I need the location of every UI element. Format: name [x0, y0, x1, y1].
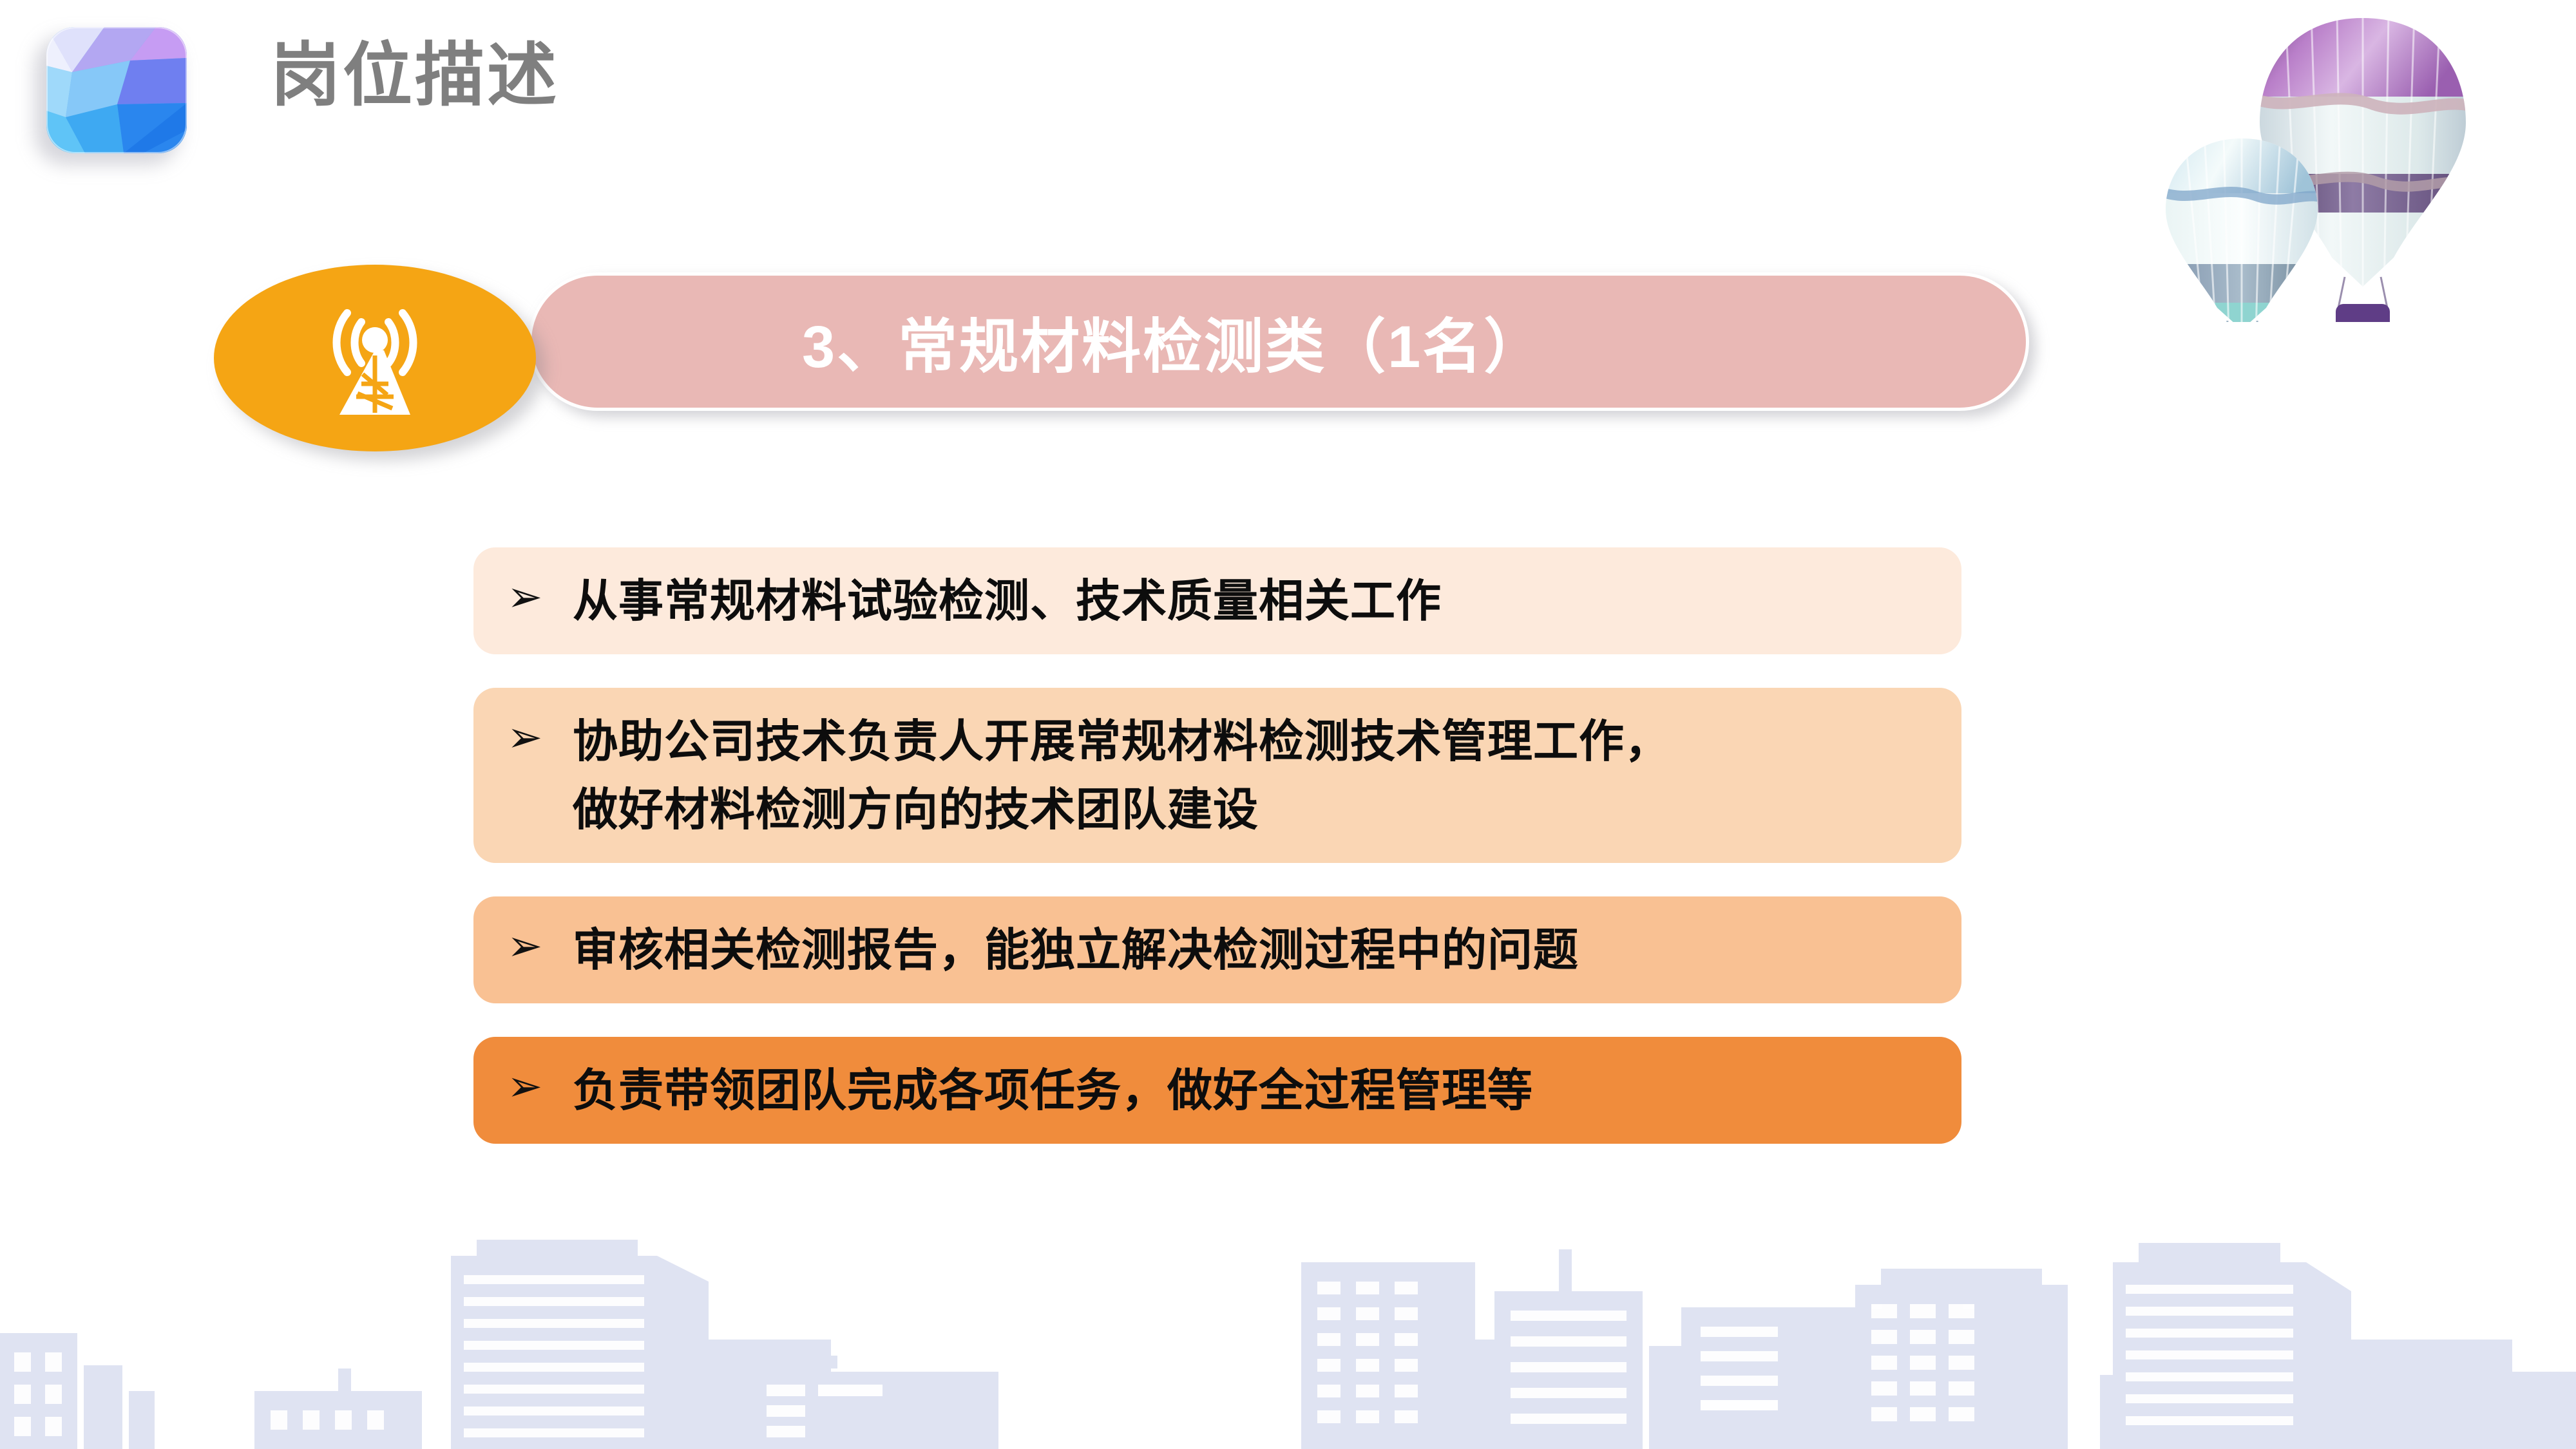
app-gradient-icon [46, 27, 198, 162]
list-item[interactable]: ➢ 审核相关检测报告，能独立解决检测过程中的问题 [473, 896, 1961, 1003]
arrow-bullet-icon: ➢ [501, 916, 573, 975]
city-skyline [0, 1179, 2576, 1449]
section-title-text: 3、常规材料检测类（1名） [802, 299, 1545, 384]
list-item-text: 审核相关检测报告，能独立解决检测过程中的问题 [573, 916, 1931, 984]
bullet-list: ➢ 从事常规材料试验检测、技术质量相关工作 ➢ 协助公司技术负责人开展常规材料检… [473, 547, 1961, 1144]
section-title-banner: 3、常规材料检测类（1名） [528, 272, 2029, 411]
arrow-bullet-icon: ➢ [501, 1056, 573, 1115]
arrow-bullet-icon: ➢ [501, 567, 573, 626]
list-item[interactable]: ➢ 负责带领团队完成各项任务，做好全过程管理等 [473, 1037, 1961, 1144]
list-item-text: 协助公司技术负责人开展常规材料检测技术管理工作， 做好材料检测方向的技术团队建设 [573, 707, 1931, 844]
arrow-bullet-icon: ➢ [501, 707, 573, 766]
list-item[interactable]: ➢ 从事常规材料试验检测、技术质量相关工作 [473, 547, 1961, 654]
broadcast-tower-badge [214, 265, 536, 451]
broadcast-tower-icon [307, 294, 443, 422]
list-item-text: 从事常规材料试验检测、技术质量相关工作 [573, 567, 1931, 635]
list-item-text: 负责带领团队完成各项任务，做好全过程管理等 [573, 1056, 1931, 1124]
list-item[interactable]: ➢ 协助公司技术负责人开展常规材料检测技术管理工作， 做好材料检测方向的技术团队… [473, 688, 1961, 863]
page-title: 岗位描述 [271, 35, 559, 115]
page-header: 岗位描述 [0, 0, 2576, 213]
section-banner: 3、常规材料检测类（1名） [193, 254, 1894, 435]
